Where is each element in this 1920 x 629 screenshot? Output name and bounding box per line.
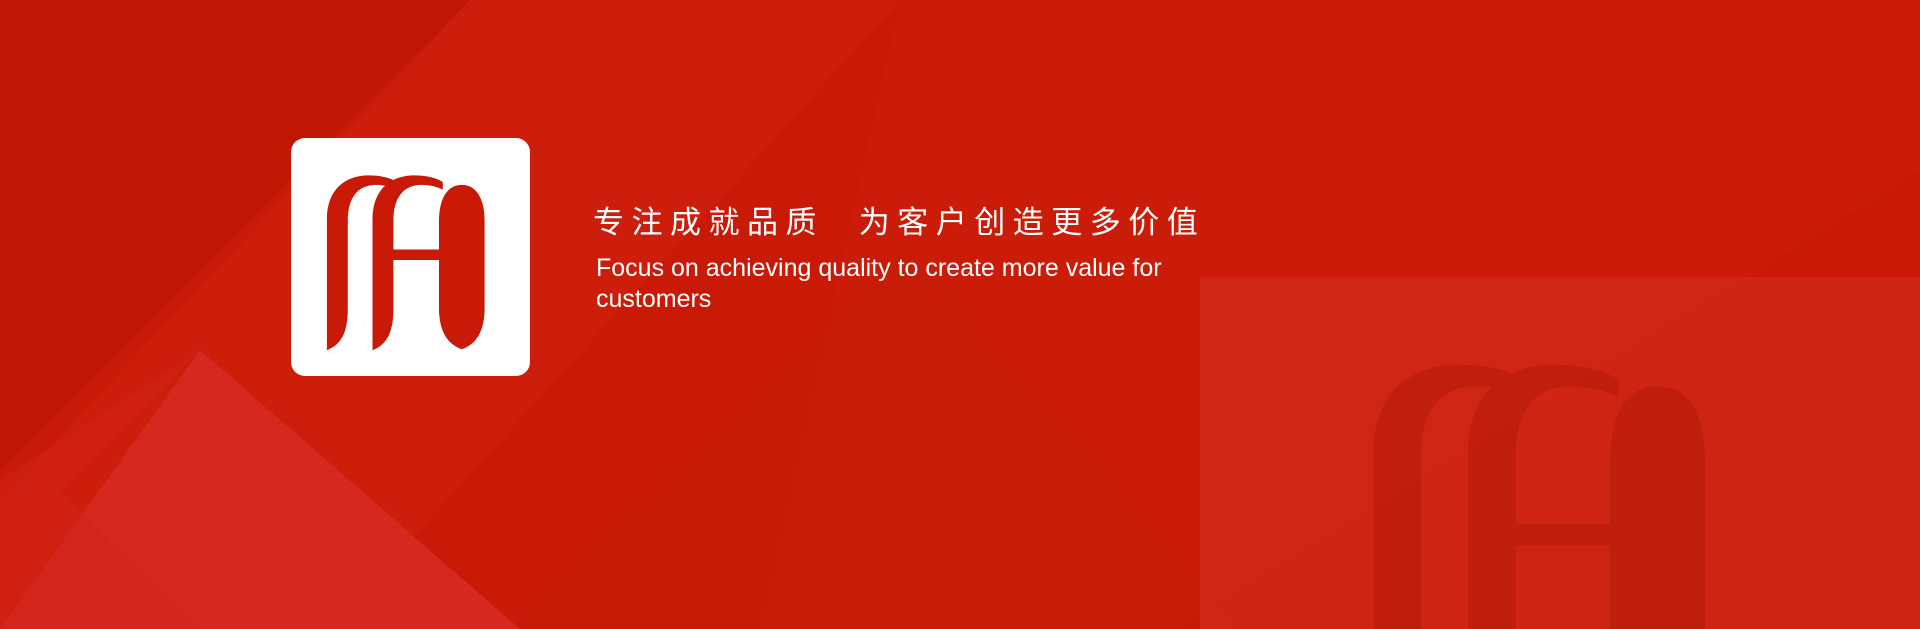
brand-banner: 专注成就品质 为客户创造更多价值 Focus on achieving qual… xyxy=(0,0,1920,629)
slogan-subtitle-en: Focus on achieving quality to create mor… xyxy=(593,246,1225,315)
logo-mark xyxy=(291,138,530,376)
slogan-headline-cn: 专注成就品质 为客户创造更多价值 xyxy=(593,200,1293,246)
slogan-block: 专注成就品质 为客户创造更多价值 Focus on achieving qual… xyxy=(593,200,1293,315)
logo-monogram-icon xyxy=(313,164,508,354)
